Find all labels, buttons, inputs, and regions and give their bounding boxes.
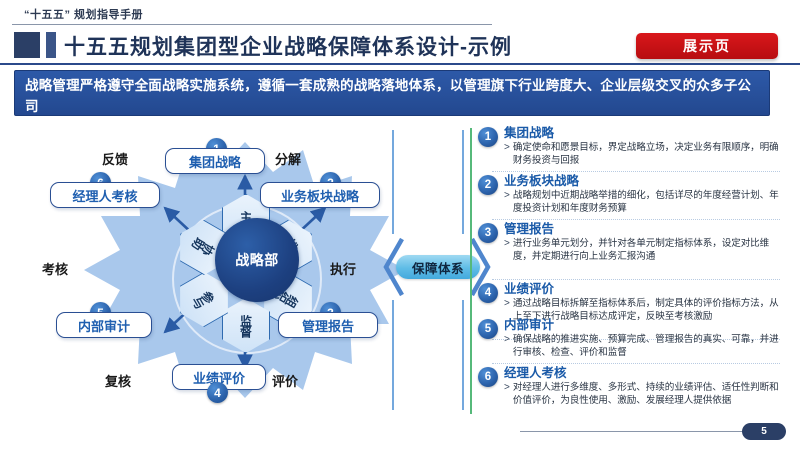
page-title: 十五五规划集团型企业战略保障体系设计-示例 [64,31,512,61]
title-square-large [14,32,40,58]
list-item-body: 战略规划中近期战略举措的细化，包括详尽的年度经营计划、年度投资计划和年度财务预算 [513,190,786,215]
list-item-body: 确定使命和愿景目标，界定战略立场，决定业务有限顺序，明确财务投资与回报 [513,142,786,167]
list-item-body: 确保战略的推进实施、预算完成、管理报告的真实、可靠，并进行审核、检查、评价和监督 [513,334,786,359]
bullet-arrow-icon: > [504,142,513,167]
list-item-body-row: > 战略规划中近期战略举措的细化，包括详尽的年度经营计划、年度投资计划和年度财务… [504,190,786,215]
outer-label-evaluate: 评价 [272,371,298,390]
node-business-unit-strategy[interactable]: 业务板块战略 [260,182,380,208]
hex-supervise: 监督 [222,298,270,353]
header-divider [0,63,800,65]
list-item-number: 3 [478,223,498,243]
list-item[interactable]: 5 内部审计 > 确保战略的推进实施、预算完成、管理报告的真实、可靠，并进行审核… [478,318,786,359]
hex-label-assist: 协助 [190,235,218,261]
summary-banner: 战略管理严格遵守全面战略实施系统，遵循一套成熟的战略落地体系，以管理旗下行业跨度… [14,70,770,116]
list-item-number: 1 [478,127,498,147]
connector-line-bottom-right [462,300,464,410]
connector-line-top-left [392,130,394,234]
list-item-body-row: > 确定使命和愿景目标，界定战略立场，决定业务有限顺序，明确财务投资与回报 [504,142,786,167]
core-strategy-department: 战略部 [215,218,299,302]
outer-label-execute: 执行 [330,259,356,278]
outer-label-assess: 考核 [42,259,68,278]
list-item-body-row: > 进行业务单元划分，并针对各单元制定指标体系，设定对比维度，并定期进行向上业务… [504,238,786,263]
guarantee-system-pill[interactable]: 保障体系 [396,255,480,279]
list-item-body-row: > 对经理人进行多维度、多形式、持续的业绩评估、适任性判断和价值评价，为良性使用… [504,382,786,407]
connector-line-top-right [462,130,464,234]
list-item-number: 4 [478,283,498,303]
list-item[interactable]: 1 集团战略 > 确定使命和愿景目标，界定战略立场，决定业务有限顺序，明确财务投… [478,126,786,167]
list-item-title: 经理人考核 [504,366,786,381]
title-square-small [46,32,56,58]
bullet-arrow-icon: > [504,238,513,263]
node-group-strategy[interactable]: 集团战略 [165,148,265,174]
list-item-title: 集团战略 [504,126,786,141]
list-item[interactable]: 2 业务板块战略 > 战略规划中近期战略举措的细化，包括详尽的年度经营计划、年度… [478,174,786,215]
list-item-number: 2 [478,175,498,195]
document-kicker: “十五五” 规划指导手册 [24,6,143,22]
bullet-arrow-icon: > [504,190,513,215]
list-item[interactable]: 3 管理报告 > 进行业务单元划分，并针对各单元制定指标体系，设定对比维度，并定… [478,222,786,263]
bullet-arrow-icon: > [504,382,513,407]
node-manager-assessment[interactable]: 经理人考核 [50,182,160,208]
list-accent-rule [470,128,472,414]
list-item-number: 5 [478,319,498,339]
outer-label-feedback: 反馈 [102,149,128,168]
hex-label-participate: 参与 [190,287,218,313]
list-item-body-row: > 确保战略的推进实施、预算完成、管理报告的真实、可靠，并进行审核、检查、评价和… [504,334,786,359]
kicker-divider [12,24,492,25]
list-separator [492,279,780,280]
node-management-report[interactable]: 管理报告 [278,312,378,338]
list-item-title: 管理报告 [504,222,786,237]
list-item-body: 对经理人进行多维度、多形式、持续的业绩评估、适任性判断和价值评价，为良性使用、激… [513,382,786,407]
footer-divider [520,431,750,432]
detail-list: 1 集团战略 > 确定使命和愿景目标，界定战略立场，决定业务有限顺序，明确财务投… [470,126,786,416]
list-item-body: 进行业务单元划分，并针对各单元制定指标体系，设定对比维度，并定期进行向上业务汇报… [513,238,786,263]
list-separator [492,171,780,172]
node-number-4: 4 [207,382,228,403]
outer-label-decompose: 分解 [275,149,301,168]
list-item-title: 业务板块战略 [504,174,786,189]
node-internal-audit[interactable]: 内部审计 [56,312,152,338]
list-item-number: 6 [478,367,498,387]
list-separator [492,363,780,364]
display-page-badge[interactable]: 展示页 [636,33,778,59]
list-separator [492,219,780,220]
list-item-title: 内部审计 [504,318,786,333]
list-item-title: 业绩评价 [504,282,786,297]
hex-label-supervise: 监督 [238,315,255,337]
list-item[interactable]: 6 经理人考核 > 对经理人进行多维度、多形式、持续的业绩评估、适任性判断和价值… [478,366,786,407]
bullet-arrow-icon: > [504,334,513,359]
outer-label-review: 复核 [105,371,131,390]
connector-line-bottom-left [392,300,394,410]
list-item[interactable]: 4 业绩评价 > 通过战略目标拆解至指标体系后，制定具体的评价指标方法，从上至下… [478,282,786,323]
page-number: 5 [742,423,786,440]
